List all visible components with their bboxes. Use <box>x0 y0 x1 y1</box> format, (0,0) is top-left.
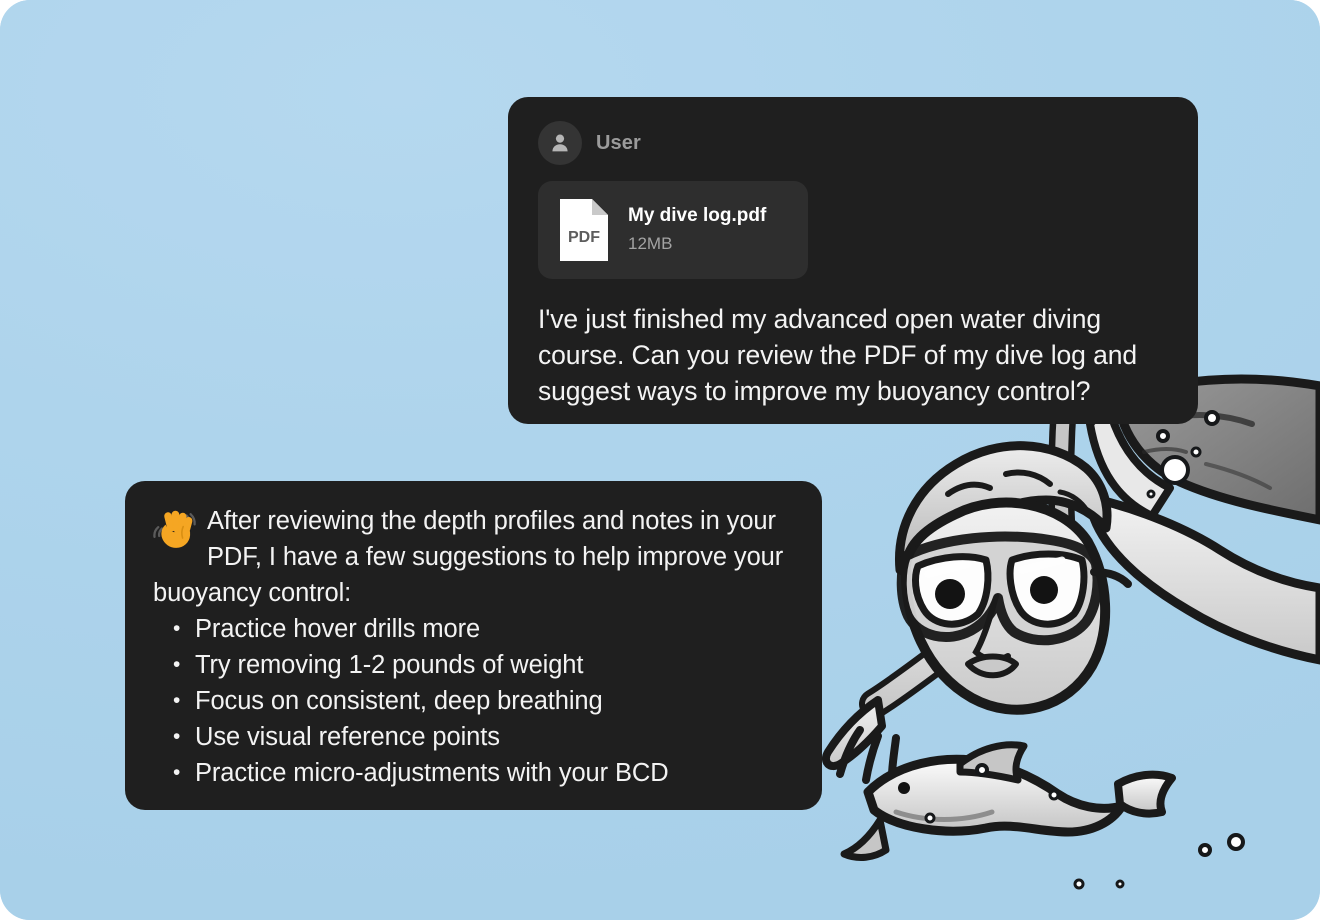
screenshot-canvas: User PDF My dive log.pdf 12MB I've just … <box>0 0 1320 920</box>
pdf-attachment-card[interactable]: PDF My dive log.pdf 12MB <box>538 181 808 279</box>
pdf-file-name: My dive log.pdf <box>628 205 766 228</box>
assistant-intro-block: After reviewing the depth profiles and n… <box>153 503 796 611</box>
user-message-header: User <box>538 121 1168 165</box>
user-sender-name: User <box>596 132 641 155</box>
suggestion-item: Focus on consistent, deep breathing <box>195 683 796 719</box>
svg-text:PDF: PDF <box>568 229 600 246</box>
waving-hand-emoji <box>153 507 197 551</box>
assistant-message-bubble: After reviewing the depth profiles and n… <box>125 481 822 810</box>
pdf-file-size: 12MB <box>628 234 766 254</box>
person-avatar-icon <box>538 121 582 165</box>
suggestion-item: Practice micro-adjustments with your BCD <box>195 755 796 791</box>
suggestion-item: Practice hover drills more <box>195 611 796 647</box>
suggestions-list: Practice hover drills more Try removing … <box>153 611 796 791</box>
user-message-bubble: User PDF My dive log.pdf 12MB I've just … <box>508 97 1198 424</box>
assistant-intro-text: After reviewing the depth profiles and n… <box>153 503 796 611</box>
suggestion-item: Try removing 1-2 pounds of weight <box>195 647 796 683</box>
user-message-text: I've just finished my advanced open wate… <box>538 301 1168 409</box>
suggestion-item: Use visual reference points <box>195 719 796 755</box>
pdf-file-meta: My dive log.pdf 12MB <box>628 205 766 254</box>
pdf-file-icon: PDF <box>556 195 612 265</box>
